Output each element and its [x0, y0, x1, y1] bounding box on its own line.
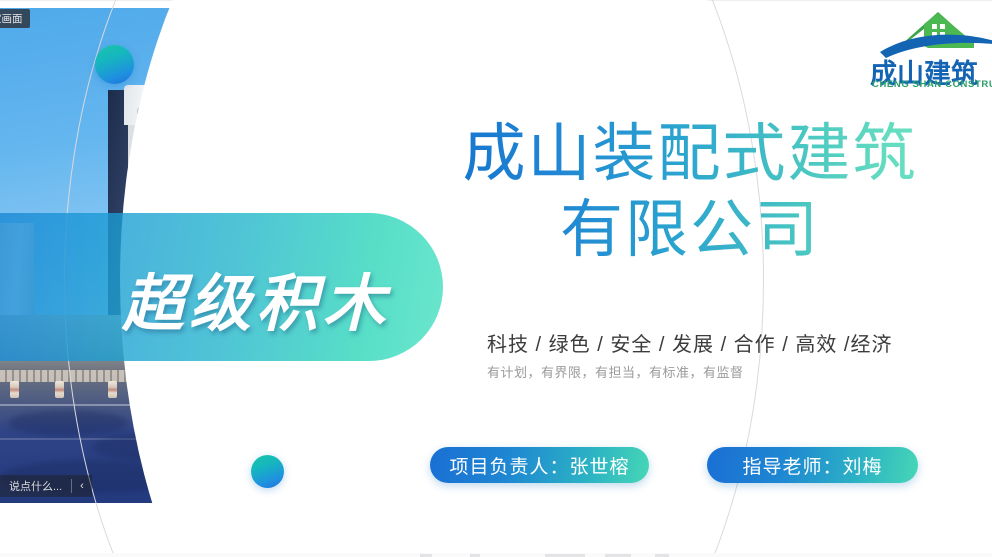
top-left-tooltip-label: 定画面: [0, 11, 23, 26]
chevron-left-icon[interactable]: ‹: [72, 481, 92, 492]
project-leader-label: 项目负责人：张世榕: [449, 452, 629, 479]
gradient-dot-bottom: [251, 455, 284, 488]
top-left-tooltip[interactable]: 定画面: [0, 9, 30, 28]
gradient-dot-top: [95, 45, 134, 84]
logo-name-en: CHENG SHAN CONSTRU: [872, 79, 992, 90]
page-title: 成山装配式建筑 有限公司: [430, 116, 950, 268]
sub-tagline: 有计划，有界限，有担当，有标准，有监督: [487, 362, 744, 381]
presentation-slide: 超级积木 成山建筑 CHENG SHAN CONSTRU 成山装配式建筑 有限公…: [0, 0, 992, 557]
project-leader-badge: 项目负责人：张世榕: [430, 447, 649, 483]
comment-bar[interactable]: 说点什么... ‹: [0, 475, 92, 497]
banner-title: 超级积木: [122, 253, 390, 343]
bottom-sliver: [0, 553, 992, 557]
company-logo: 成山建筑 CHENG SHAN CONSTRU: [864, 0, 992, 92]
mentor-badge: 指导老师：刘梅: [707, 447, 918, 483]
tagline: 科技 / 绿色 / 安全 / 发展 / 合作 / 高效 /经济: [487, 328, 892, 357]
comment-input[interactable]: 说点什么...: [0, 478, 71, 494]
mentor-label: 指导老师：刘梅: [742, 452, 882, 479]
